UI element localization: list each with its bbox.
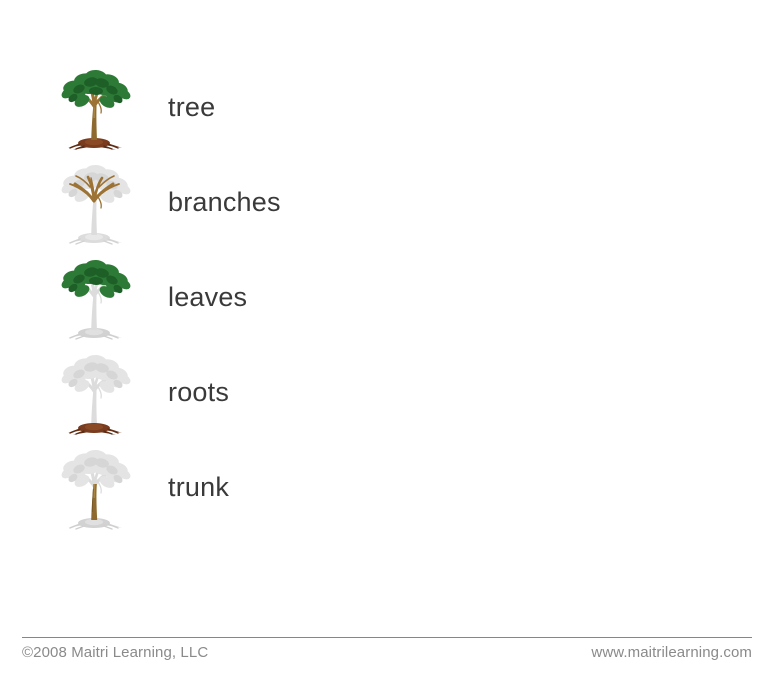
card-row-tree: tree	[0, 60, 774, 155]
tree-roots-icon	[46, 345, 142, 440]
card-label-roots: roots	[168, 379, 229, 406]
tree-leaves-icon	[46, 250, 142, 345]
card-label-branches: branches	[168, 189, 281, 216]
footer-copyright: ©2008 Maitri Learning, LLC	[22, 644, 208, 661]
card-row-trunk: trunk	[0, 440, 774, 535]
card-label-tree: tree	[168, 94, 215, 121]
tree-whole-icon	[46, 60, 142, 155]
card-label-leaves: leaves	[168, 284, 247, 311]
footer-website: www.maitrilearning.com	[591, 644, 752, 661]
card-row-branches: branches	[0, 155, 774, 250]
nomenclature-card: tree	[0, 0, 774, 682]
tree-branches-icon	[46, 155, 142, 250]
card-row-roots: roots	[0, 345, 774, 440]
tree-trunk-icon	[46, 440, 142, 535]
footer-divider	[22, 637, 752, 638]
card-label-trunk: trunk	[168, 474, 229, 501]
card-row-leaves: leaves	[0, 250, 774, 345]
